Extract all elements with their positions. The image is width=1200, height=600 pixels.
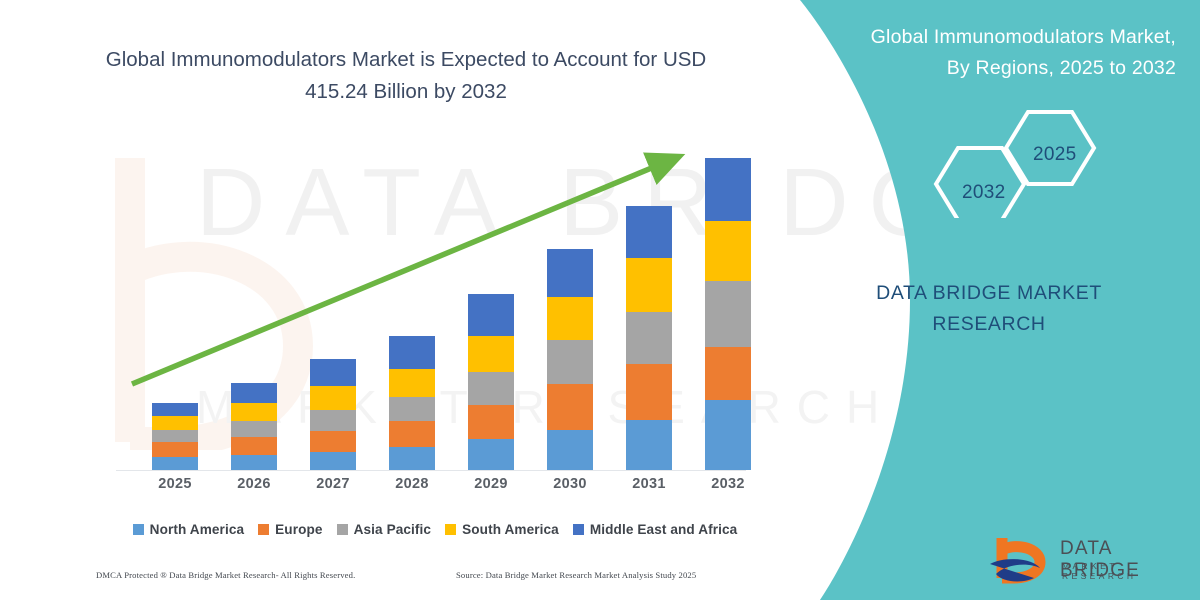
bar-segment-south-america xyxy=(547,297,593,340)
x-axis-label-2025: 2025 xyxy=(145,476,205,492)
x-axis-label-2029: 2029 xyxy=(461,476,521,492)
bar-segment-europe xyxy=(310,431,356,452)
bar-segment-asia-pacific xyxy=(152,430,198,442)
x-axis-label-2028: 2028 xyxy=(382,476,442,492)
bar-segment-north-america xyxy=(626,420,672,470)
x-axis-label-2030: 2030 xyxy=(540,476,600,492)
chart-plot-area xyxy=(96,140,756,470)
bar-segment-asia-pacific xyxy=(547,340,593,384)
dmca-notice: DMCA Protected ® Data Bridge Market Rese… xyxy=(96,570,355,580)
bar-2032 xyxy=(705,158,751,470)
legend-swatch-icon xyxy=(258,524,269,535)
bar-segment-north-america xyxy=(389,447,435,470)
bar-2030 xyxy=(547,249,593,470)
bar-segment-europe xyxy=(705,347,751,400)
logo-subtitle: MARKET RESEARCH xyxy=(1062,561,1186,581)
stacked-bar-chart: 20252026202720282029203020312032 xyxy=(96,140,756,480)
legend-item-asia-pacific[interactable]: Asia Pacific xyxy=(337,522,432,537)
chart-baseline xyxy=(116,470,746,471)
bar-segment-asia-pacific xyxy=(705,281,751,347)
bar-segment-middle-east-and-africa xyxy=(626,206,672,258)
bar-segment-south-america xyxy=(231,403,277,421)
bar-segment-south-america xyxy=(468,336,514,372)
bar-segment-south-america xyxy=(152,416,198,430)
legend-swatch-icon xyxy=(133,524,144,535)
bar-segment-middle-east-and-africa xyxy=(389,336,435,369)
bar-segment-south-america xyxy=(626,258,672,312)
bar-2031 xyxy=(626,206,672,470)
bar-segment-middle-east-and-africa xyxy=(152,403,198,416)
hex-label-start: 2032 xyxy=(962,182,1005,204)
bar-segment-north-america xyxy=(152,457,198,470)
bar-segment-south-america xyxy=(389,369,435,397)
legend-label: Asia Pacific xyxy=(354,522,432,537)
panel-brand-line2: RESEARCH xyxy=(824,309,1154,340)
bar-segment-north-america xyxy=(231,455,277,470)
panel-heading-line2: By Regions, 2025 to 2032 xyxy=(836,53,1176,84)
legend-swatch-icon xyxy=(445,524,456,535)
panel-brand-line1: DATA BRIDGE MARKET xyxy=(824,278,1154,309)
panel-heading: Global Immunomodulators Market, By Regio… xyxy=(836,22,1176,84)
bar-segment-asia-pacific xyxy=(468,372,514,405)
bar-segment-europe xyxy=(231,437,277,455)
x-axis-label-2026: 2026 xyxy=(224,476,284,492)
bar-2027 xyxy=(310,359,356,470)
bar-segment-asia-pacific xyxy=(310,410,356,431)
bar-2026 xyxy=(231,383,277,470)
bar-segment-asia-pacific xyxy=(389,397,435,421)
bar-segment-north-america xyxy=(547,430,593,470)
legend-label: Europe xyxy=(275,522,322,537)
legend-label: South America xyxy=(462,522,559,537)
chart-legend: North AmericaEuropeAsia PacificSouth Ame… xyxy=(110,518,760,540)
bar-segment-south-america xyxy=(705,221,751,281)
bar-segment-north-america xyxy=(468,439,514,470)
x-axis-labels: 20252026202720282029203020312032 xyxy=(96,476,756,502)
legend-item-north-america[interactable]: North America xyxy=(133,522,244,537)
bar-segment-south-america xyxy=(310,386,356,410)
bar-segment-north-america xyxy=(310,452,356,470)
hex-label-end: 2025 xyxy=(1033,144,1076,166)
x-axis-label-2027: 2027 xyxy=(303,476,363,492)
bar-2025 xyxy=(152,403,198,470)
bar-segment-europe xyxy=(389,421,435,447)
bar-segment-europe xyxy=(626,364,672,420)
bar-segment-middle-east-and-africa xyxy=(705,158,751,221)
legend-swatch-icon xyxy=(573,524,584,535)
year-hexagons: 2025 2032 xyxy=(920,108,1110,218)
brand-logo: DATA BRIDGE MARKET RESEARCH xyxy=(988,534,1186,588)
infographic-canvas: DATA BRIDGE MARKET RESEARCH Global Immun… xyxy=(0,0,1200,600)
bar-segment-middle-east-and-africa xyxy=(310,359,356,386)
bar-2029 xyxy=(468,294,514,470)
legend-swatch-icon xyxy=(337,524,348,535)
bar-segment-middle-east-and-africa xyxy=(468,294,514,336)
hexagon-outlines xyxy=(920,108,1110,218)
panel-heading-line1: Global Immunomodulators Market, xyxy=(836,22,1176,53)
legend-label: Middle East and Africa xyxy=(590,522,737,537)
x-axis-label-2031: 2031 xyxy=(619,476,679,492)
page-title: Global Immunomodulators Market is Expect… xyxy=(96,44,716,108)
bar-segment-europe xyxy=(547,384,593,430)
logo-mark-icon xyxy=(988,534,1054,586)
panel-brand: DATA BRIDGE MARKET RESEARCH xyxy=(824,278,1154,340)
bar-segment-europe xyxy=(468,405,514,439)
legend-item-europe[interactable]: Europe xyxy=(258,522,322,537)
bar-segment-asia-pacific xyxy=(231,421,277,437)
bar-2028 xyxy=(389,336,435,470)
bar-segment-north-america xyxy=(705,400,751,470)
legend-item-middle-east-and-africa[interactable]: Middle East and Africa xyxy=(573,522,737,537)
bar-segment-asia-pacific xyxy=(626,312,672,364)
legend-label: North America xyxy=(150,522,244,537)
source-note: Source: Data Bridge Market Research Mark… xyxy=(456,570,696,580)
legend-item-south-america[interactable]: South America xyxy=(445,522,559,537)
bar-segment-europe xyxy=(152,442,198,457)
x-axis-label-2032: 2032 xyxy=(698,476,758,492)
bar-segment-middle-east-and-africa xyxy=(547,249,593,297)
bar-segment-middle-east-and-africa xyxy=(231,383,277,403)
